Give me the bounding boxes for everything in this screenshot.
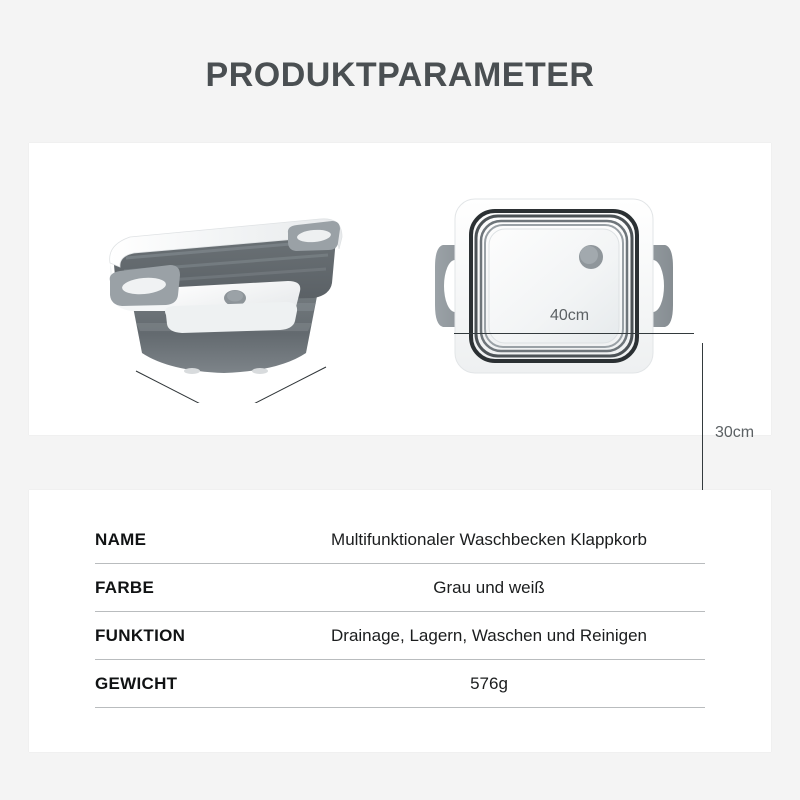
spec-label-name: NAME [95, 530, 273, 550]
basin-handle-left [110, 265, 180, 306]
table-row: NAME Multifunktionaler Waschbecken Klapp… [95, 516, 705, 564]
product-image-card: 19.6cm 25cm [29, 143, 771, 435]
basin-front-lip [165, 302, 297, 333]
table-row: FUNKTION Drainage, Lagern, Waschen und R… [95, 612, 705, 660]
spec-value-gewicht: 576g [273, 674, 705, 694]
dimension-label-length: 40cm [550, 307, 589, 325]
dimension-line-width [232, 367, 326, 403]
page-title: PRODUKTPARAMETER [0, 56, 800, 95]
spec-value-farbe: Grau und weiß [273, 578, 705, 598]
spec-value-funktion: Drainage, Lagern, Waschen und Reinigen [273, 626, 705, 646]
cutting-board-surface [489, 229, 619, 343]
table-row: FARBE Grau und weiß [95, 564, 705, 612]
spec-label-farbe: FARBE [95, 578, 273, 598]
spec-label-funktion: FUNKTION [95, 626, 273, 646]
dimension-line-length [454, 333, 694, 334]
dimension-line-depth [136, 371, 222, 403]
collapsible-basin-perspective-illustration [74, 203, 374, 403]
specification-table: NAME Multifunktionaler Waschbecken Klapp… [95, 516, 705, 708]
collapsible-basin-topdown-illustration [429, 185, 679, 385]
dimension-label-height: 30cm [715, 424, 754, 442]
spec-value-name: Multifunktionaler Waschbecken Klappkorb [273, 530, 705, 550]
table-row: GEWICHT 576g [95, 660, 705, 708]
spec-label-gewicht: GEWICHT [95, 674, 273, 694]
basin-handle-right [288, 221, 340, 251]
specification-card: NAME Multifunktionaler Waschbecken Klapp… [29, 490, 771, 752]
